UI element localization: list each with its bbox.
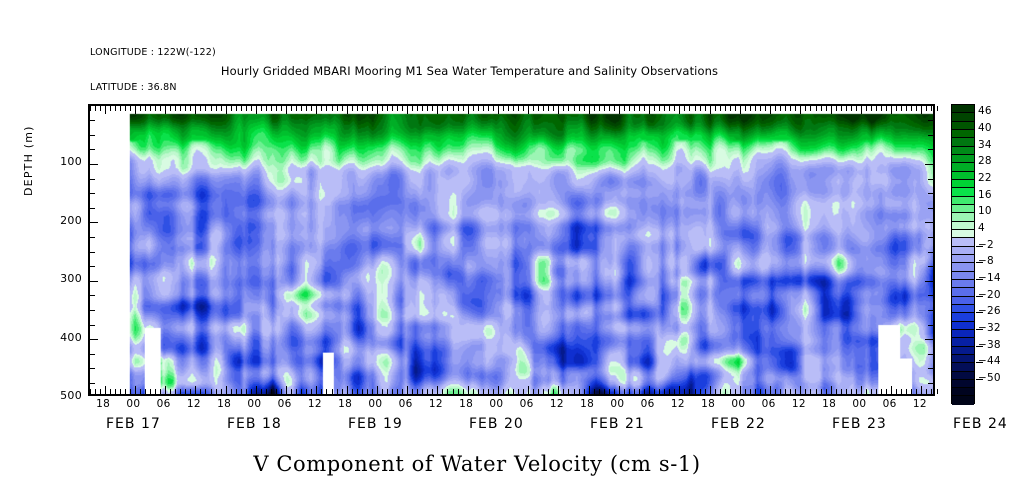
x-date-label: FEB 24	[953, 416, 1008, 432]
x-axis-tick	[674, 106, 675, 111]
x-axis-tick	[276, 106, 277, 111]
x-hour-label: 12	[187, 398, 201, 410]
x-axis-tick	[836, 106, 837, 111]
x-axis-tick	[190, 389, 191, 394]
y-axis-tick	[90, 164, 98, 165]
x-axis-tick	[770, 106, 771, 114]
x-axis-tick	[301, 106, 302, 111]
x-axis-tick	[715, 106, 716, 111]
x-axis-tick	[90, 389, 91, 394]
x-axis-hour-labels: 1800061218000612180006121800061218000612…	[88, 398, 935, 414]
x-axis-tick	[387, 106, 388, 111]
x-axis-tick	[937, 106, 938, 111]
y-axis-tick	[925, 222, 933, 223]
x-axis-tick	[483, 106, 484, 111]
y-axis-tick-labels: 100200300400500	[38, 104, 82, 396]
x-axis-tick	[821, 106, 822, 111]
x-axis-tick	[775, 106, 776, 111]
y-axis-tick	[90, 354, 95, 355]
x-axis-tick	[926, 106, 927, 111]
x-hour-label: 06	[641, 398, 655, 410]
colorbar-swatch	[952, 272, 974, 280]
x-axis-tick	[337, 389, 338, 394]
x-hour-label: 12	[308, 398, 322, 410]
x-axis-tick	[412, 106, 413, 111]
x-axis-tick	[579, 389, 580, 394]
x-axis-tick	[190, 106, 191, 111]
x-axis-tick	[367, 106, 368, 111]
colorbar-tick-label: −2	[978, 239, 994, 251]
y-axis-tick	[90, 120, 95, 121]
colorbar-swatch	[952, 322, 974, 330]
colorbar-tick-labels: 464034282216104−2−8−14−20−26−32−38−44−50	[978, 104, 1008, 404]
heatmap-canvas	[90, 106, 933, 394]
y-tick-label: 500	[42, 389, 82, 402]
x-axis-tick	[589, 386, 590, 394]
y-axis-tick	[925, 164, 933, 165]
x-axis-tick	[760, 106, 761, 111]
x-axis-tick	[644, 389, 645, 394]
x-axis-tick	[266, 389, 267, 394]
x-axis-tick	[891, 386, 892, 394]
x-axis-tick	[911, 106, 912, 111]
x-axis-tick	[730, 106, 731, 111]
x-axis-tick	[493, 389, 494, 394]
x-axis-tick	[533, 389, 534, 394]
x-hour-label: 18	[701, 398, 715, 410]
x-axis-tick	[180, 389, 181, 394]
colorbar-swatch	[952, 288, 974, 296]
colorbar-tick-label: 4	[978, 222, 985, 234]
colorbar-swatch	[952, 247, 974, 255]
x-axis-tick	[135, 106, 136, 114]
x-axis-tick	[432, 389, 433, 394]
x-axis-tick	[755, 389, 756, 394]
x-axis-tick	[720, 389, 721, 394]
x-axis-tick	[251, 106, 252, 111]
x-date-label: FEB 20	[469, 416, 524, 432]
x-axis-tick	[155, 389, 156, 394]
x-axis-tick	[816, 389, 817, 394]
x-axis-tick	[649, 386, 650, 394]
x-axis-tick	[684, 389, 685, 394]
x-axis-tick	[170, 106, 171, 111]
x-axis-tick	[689, 389, 690, 394]
x-axis-tick	[473, 389, 474, 394]
plot-area	[88, 104, 935, 396]
x-axis-tick	[931, 106, 932, 111]
x-axis-tick	[160, 106, 161, 111]
x-axis-tick	[402, 106, 403, 111]
x-axis-tick	[236, 106, 237, 111]
colorbar-swatch	[952, 363, 974, 371]
x-axis-tick	[810, 106, 811, 111]
x-axis-tick	[256, 106, 257, 114]
colorbar-swatch	[952, 188, 974, 196]
x-axis-tick	[679, 386, 680, 394]
x-axis-tick	[659, 389, 660, 394]
x-axis-tick	[664, 106, 665, 111]
x-axis-tick	[805, 106, 806, 111]
x-date-label: FEB 18	[227, 416, 282, 432]
x-axis-tick	[639, 389, 640, 394]
x-axis-tick	[125, 389, 126, 394]
colorbar	[951, 104, 975, 404]
x-axis-tick	[700, 106, 701, 111]
x-axis-tick	[286, 106, 287, 114]
x-axis-tick	[422, 106, 423, 111]
x-axis-tick	[140, 106, 141, 111]
x-axis-tick	[231, 389, 232, 394]
x-axis-tick	[392, 389, 393, 394]
x-axis-tick	[115, 106, 116, 111]
x-axis-tick	[937, 389, 938, 394]
x-axis-tick	[488, 389, 489, 394]
x-hour-label: 00	[126, 398, 140, 410]
colorbar-tick	[976, 296, 983, 297]
x-axis-tick	[296, 389, 297, 394]
x-axis-tick	[548, 106, 549, 111]
x-axis-tick	[105, 106, 106, 114]
x-axis-tick	[826, 389, 827, 394]
y-axis-tick	[90, 383, 95, 384]
x-axis-tick	[513, 106, 514, 111]
x-axis-tick	[695, 389, 696, 394]
x-hour-label: 00	[247, 398, 261, 410]
colorbar-swatch	[952, 305, 974, 313]
x-axis-tick	[180, 106, 181, 111]
x-axis-tick	[715, 389, 716, 394]
x-axis-tick	[669, 389, 670, 394]
y-axis-tick	[90, 339, 98, 340]
x-axis-tick	[755, 106, 756, 111]
x-axis-tick	[856, 389, 857, 394]
x-axis-tick	[372, 106, 373, 111]
y-axis-tick	[90, 266, 95, 267]
x-axis-tick	[332, 106, 333, 111]
colorbar-swatch	[952, 130, 974, 138]
x-axis-tick	[483, 389, 484, 394]
x-axis-tick	[100, 106, 101, 111]
x-axis-tick	[271, 389, 272, 394]
x-axis-tick	[906, 389, 907, 394]
x-axis-tick	[654, 389, 655, 394]
x-axis-tick	[347, 386, 348, 394]
x-axis-tick	[488, 106, 489, 111]
x-axis-tick	[775, 389, 776, 394]
x-axis-tick	[291, 106, 292, 111]
y-axis-tick	[928, 325, 933, 326]
x-axis-tick	[876, 389, 877, 394]
colorbar-swatch	[952, 330, 974, 338]
x-axis-tick	[226, 386, 227, 394]
x-axis-tick	[326, 389, 327, 394]
y-axis-tick	[928, 237, 933, 238]
x-axis-tick	[614, 106, 615, 111]
x-axis-tick	[321, 106, 322, 111]
x-hour-label: 00	[368, 398, 382, 410]
x-axis-tick	[442, 106, 443, 111]
x-axis-tick	[251, 389, 252, 394]
x-axis-tick	[130, 389, 131, 394]
x-axis-tick	[442, 389, 443, 394]
x-axis-tick	[810, 389, 811, 394]
x-axis-tick	[866, 106, 867, 111]
x-axis-tick	[468, 386, 469, 394]
x-axis-tick	[316, 386, 317, 394]
x-axis-tick	[866, 389, 867, 394]
x-axis-tick	[407, 386, 408, 394]
x-axis-tick	[826, 106, 827, 111]
x-axis-tick	[407, 106, 408, 114]
x-axis-tick	[261, 389, 262, 394]
x-axis-tick	[205, 106, 206, 111]
y-axis-tick	[90, 368, 95, 369]
x-axis-tick	[145, 106, 146, 111]
x-axis-tick	[110, 389, 111, 394]
colorbar-swatch	[952, 147, 974, 155]
x-axis-tick	[624, 389, 625, 394]
x-axis-tick	[735, 106, 736, 111]
x-axis-tick	[397, 106, 398, 111]
x-hour-label: 00	[489, 398, 503, 410]
x-axis-tick	[700, 389, 701, 394]
x-axis-tick	[226, 106, 227, 114]
x-axis-tick	[921, 106, 922, 114]
y-axis-tick	[928, 310, 933, 311]
y-axis-tick	[925, 281, 933, 282]
x-hour-label: 06	[399, 398, 413, 410]
x-axis-tick	[468, 106, 469, 114]
colorbar-swatch	[952, 338, 974, 346]
x-axis-tick	[679, 106, 680, 114]
x-axis-tick	[634, 389, 635, 394]
x-axis-tick	[458, 389, 459, 394]
x-axis-tick	[619, 386, 620, 394]
x-axis-tick	[221, 106, 222, 111]
x-axis-tick	[478, 106, 479, 111]
x-axis-tick	[861, 386, 862, 394]
y-axis-tick	[90, 237, 95, 238]
colorbar-swatch	[952, 138, 974, 146]
x-axis-tick	[528, 386, 529, 394]
colorbar-tick-label: −14	[978, 272, 1001, 284]
x-axis-tick	[256, 386, 257, 394]
x-axis-tick	[397, 389, 398, 394]
x-axis-tick	[624, 106, 625, 111]
x-axis-tick	[795, 389, 796, 394]
x-axis-tick	[901, 106, 902, 111]
x-axis-date-labels: FEB 17FEB 18FEB 19FEB 20FEB 21FEB 22FEB …	[88, 416, 935, 438]
x-axis-tick	[296, 106, 297, 111]
x-axis-tick	[563, 389, 564, 394]
colorbar-swatch	[952, 197, 974, 205]
x-hour-label: 12	[792, 398, 806, 410]
x-axis-tick	[649, 106, 650, 114]
x-axis-tick	[831, 106, 832, 114]
x-axis-tick	[881, 106, 882, 111]
x-hour-label: 18	[96, 398, 110, 410]
x-axis-tick	[311, 106, 312, 111]
x-axis-tick	[836, 389, 837, 394]
x-date-label: FEB 21	[590, 416, 645, 432]
colorbar-swatch	[952, 238, 974, 246]
x-hour-label: 18	[822, 398, 836, 410]
colorbar-tick	[976, 379, 983, 380]
x-hour-label: 06	[157, 398, 171, 410]
x-axis-tick	[402, 389, 403, 394]
x-axis-tick	[785, 389, 786, 394]
colorbar-tick-label: −38	[978, 339, 1001, 351]
x-axis-tick	[780, 106, 781, 111]
x-axis-tick	[750, 389, 751, 394]
x-axis-tick	[558, 106, 559, 114]
x-axis-tick	[175, 106, 176, 111]
x-hour-label: 06	[278, 398, 292, 410]
x-axis-tick	[614, 389, 615, 394]
x-hour-label: 12	[671, 398, 685, 410]
x-axis-tick	[377, 106, 378, 114]
y-tick-label: 200	[42, 214, 82, 227]
colorbar-swatch	[952, 280, 974, 288]
x-axis-tick	[710, 386, 711, 394]
x-axis-tick	[548, 389, 549, 394]
x-axis-tick	[543, 106, 544, 111]
y-axis-tick	[928, 266, 933, 267]
y-axis-tick	[90, 252, 95, 253]
x-axis-tick	[871, 389, 872, 394]
colorbar-swatch	[952, 213, 974, 221]
x-hour-label: 12	[550, 398, 564, 410]
x-axis-tick	[473, 106, 474, 111]
x-axis-tick	[447, 389, 448, 394]
x-hour-label: 18	[217, 398, 231, 410]
x-axis-tick	[432, 106, 433, 111]
x-axis-tick	[367, 389, 368, 394]
x-axis-tick	[453, 389, 454, 394]
x-axis-tick	[725, 389, 726, 394]
x-axis-tick	[170, 389, 171, 394]
x-axis-tick	[886, 106, 887, 111]
x-axis-tick	[831, 386, 832, 394]
x-axis-tick	[563, 106, 564, 111]
x-axis-tick	[574, 389, 575, 394]
x-axis-tick	[745, 106, 746, 111]
x-axis-tick	[387, 389, 388, 394]
x-axis-tick	[871, 106, 872, 111]
x-axis-tick	[790, 389, 791, 394]
x-axis-tick	[493, 106, 494, 111]
x-axis-tick	[543, 389, 544, 394]
colorbar-swatch	[952, 163, 974, 171]
x-axis-tick	[609, 389, 610, 394]
colorbar-tick-label: −32	[978, 322, 1001, 334]
x-axis-tick	[861, 106, 862, 114]
x-axis-tick	[589, 106, 590, 114]
y-tick-label: 100	[42, 155, 82, 168]
x-axis-tick	[674, 389, 675, 394]
x-axis-tick	[453, 106, 454, 111]
x-axis-tick	[720, 106, 721, 111]
x-axis-tick	[523, 389, 524, 394]
x-axis-tick	[195, 106, 196, 114]
x-axis-tick	[372, 389, 373, 394]
colorbar-swatch	[952, 205, 974, 213]
x-axis-tick	[735, 389, 736, 394]
x-axis-tick	[271, 106, 272, 111]
x-axis-tick	[574, 106, 575, 111]
x-axis-tick	[165, 386, 166, 394]
x-axis-tick	[740, 386, 741, 394]
x-axis-tick	[185, 389, 186, 394]
x-axis-tick	[306, 389, 307, 394]
x-axis-tick	[800, 106, 801, 114]
x-axis-tick	[155, 106, 156, 111]
x-axis-tick	[568, 106, 569, 111]
x-axis-tick	[216, 106, 217, 111]
x-axis-tick	[558, 386, 559, 394]
x-axis-tick	[422, 389, 423, 394]
x-axis-tick	[105, 386, 106, 394]
x-axis-tick	[538, 389, 539, 394]
x-axis-tick	[246, 106, 247, 111]
x-date-label: FEB 19	[348, 416, 403, 432]
x-axis-tick	[518, 389, 519, 394]
x-axis-tick	[352, 106, 353, 111]
colorbar-tick	[976, 362, 983, 363]
x-axis-tick	[921, 386, 922, 394]
x-axis-tick	[276, 389, 277, 394]
x-axis-tick	[639, 106, 640, 111]
x-hour-label: 06	[520, 398, 534, 410]
colorbar-swatch	[952, 180, 974, 188]
x-axis-tick	[266, 106, 267, 111]
colorbar-swatch	[952, 263, 974, 271]
x-axis-tick	[382, 106, 383, 111]
x-date-label: FEB 22	[711, 416, 766, 432]
x-axis-tick	[568, 389, 569, 394]
chart-title: Hourly Gridded MBARI Mooring M1 Sea Wate…	[0, 64, 1009, 78]
x-axis-tick	[916, 389, 917, 394]
x-axis-tick	[241, 106, 242, 111]
colorbar-tick-label: 10	[978, 205, 992, 217]
x-hour-label: 06	[762, 398, 776, 410]
x-axis-tick	[629, 389, 630, 394]
colorbar-swatch	[952, 172, 974, 180]
y-tick-label: 300	[42, 272, 82, 285]
x-axis-tick	[200, 106, 201, 111]
x-axis-tick	[886, 389, 887, 394]
x-axis-tick	[780, 389, 781, 394]
colorbar-tick	[976, 262, 983, 263]
x-axis-tick	[216, 389, 217, 394]
colorbar-swatch	[952, 113, 974, 121]
x-axis-tick	[846, 389, 847, 394]
x-axis-tick	[841, 389, 842, 394]
x-axis-tick	[695, 106, 696, 111]
x-hour-label: 00	[852, 398, 866, 410]
x-axis-tick	[311, 389, 312, 394]
x-axis-tick	[437, 106, 438, 114]
x-axis-tick	[841, 106, 842, 111]
x-axis-tick	[498, 386, 499, 394]
x-axis-tick	[750, 106, 751, 111]
x-axis-tick	[508, 389, 509, 394]
x-axis-tick	[916, 106, 917, 111]
x-axis-tick	[654, 106, 655, 111]
y-axis-tick	[928, 383, 933, 384]
x-axis-tick	[851, 106, 852, 111]
